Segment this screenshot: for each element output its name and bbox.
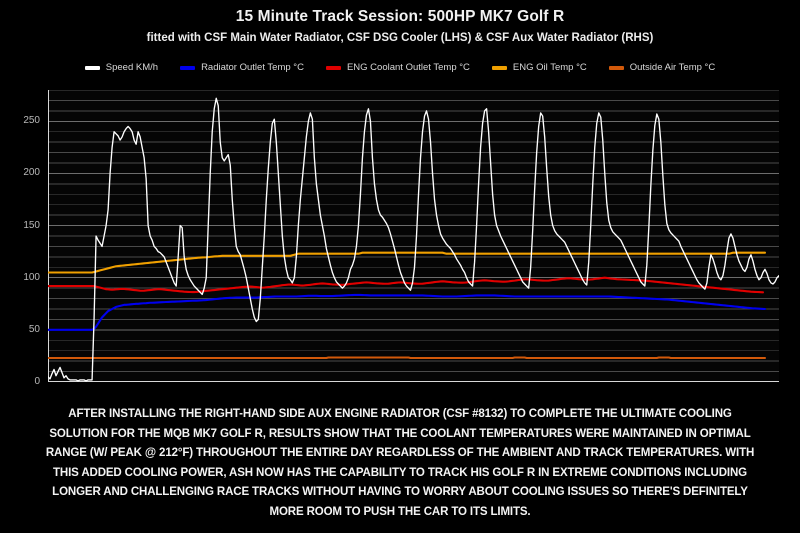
series-line-radiator-outlet-temp-c — [48, 295, 765, 330]
y-axis-tick-100: 100 — [6, 272, 40, 283]
y-axis-tick-50: 50 — [6, 324, 40, 335]
y-axis-tick-250: 250 — [6, 115, 40, 126]
series-line-speed-km-h — [48, 98, 779, 381]
chart-title: 15 Minute Track Session: 500HP MK7 Golf … — [0, 8, 800, 26]
legend-label: ENG Oil Temp °C — [513, 62, 587, 73]
chart-screenshot: 15 Minute Track Session: 500HP MK7 Golf … — [0, 0, 800, 533]
legend-label: Radiator Outlet Temp °C — [201, 62, 304, 73]
chart-legend: Speed KM/hRadiator Outlet Temp °CENG Coo… — [0, 62, 800, 73]
y-axis-tick-0: 0 — [6, 376, 40, 387]
legend-swatch-icon — [85, 66, 100, 70]
y-axis-tick-200: 200 — [6, 167, 40, 178]
legend-item-0[interactable]: Speed KM/h — [85, 62, 158, 73]
y-axis-tick-150: 150 — [6, 220, 40, 231]
legend-swatch-icon — [492, 66, 507, 70]
chart-caption: After installing the right-hand side Aux… — [41, 404, 759, 521]
legend-item-3[interactable]: ENG Oil Temp °C — [492, 62, 587, 73]
legend-item-2[interactable]: ENG Coolant Outlet Temp °C — [326, 62, 470, 73]
series-line-eng-oil-temp-c — [48, 253, 765, 273]
legend-swatch-icon — [180, 66, 195, 70]
legend-label: Speed KM/h — [106, 62, 158, 73]
legend-label: ENG Coolant Outlet Temp °C — [347, 62, 470, 73]
legend-item-1[interactable]: Radiator Outlet Temp °C — [180, 62, 304, 73]
chart-subtitle: fitted with CSF Main Water Radiator, CSF… — [0, 32, 800, 44]
plot-area — [48, 90, 779, 382]
legend-swatch-icon — [609, 66, 624, 70]
chart-canvas — [48, 90, 779, 382]
legend-label: Outside Air Temp °C — [630, 62, 715, 73]
legend-item-4[interactable]: Outside Air Temp °C — [609, 62, 715, 73]
series-line-outside-air-temp-c — [48, 357, 765, 358]
legend-swatch-icon — [326, 66, 341, 70]
